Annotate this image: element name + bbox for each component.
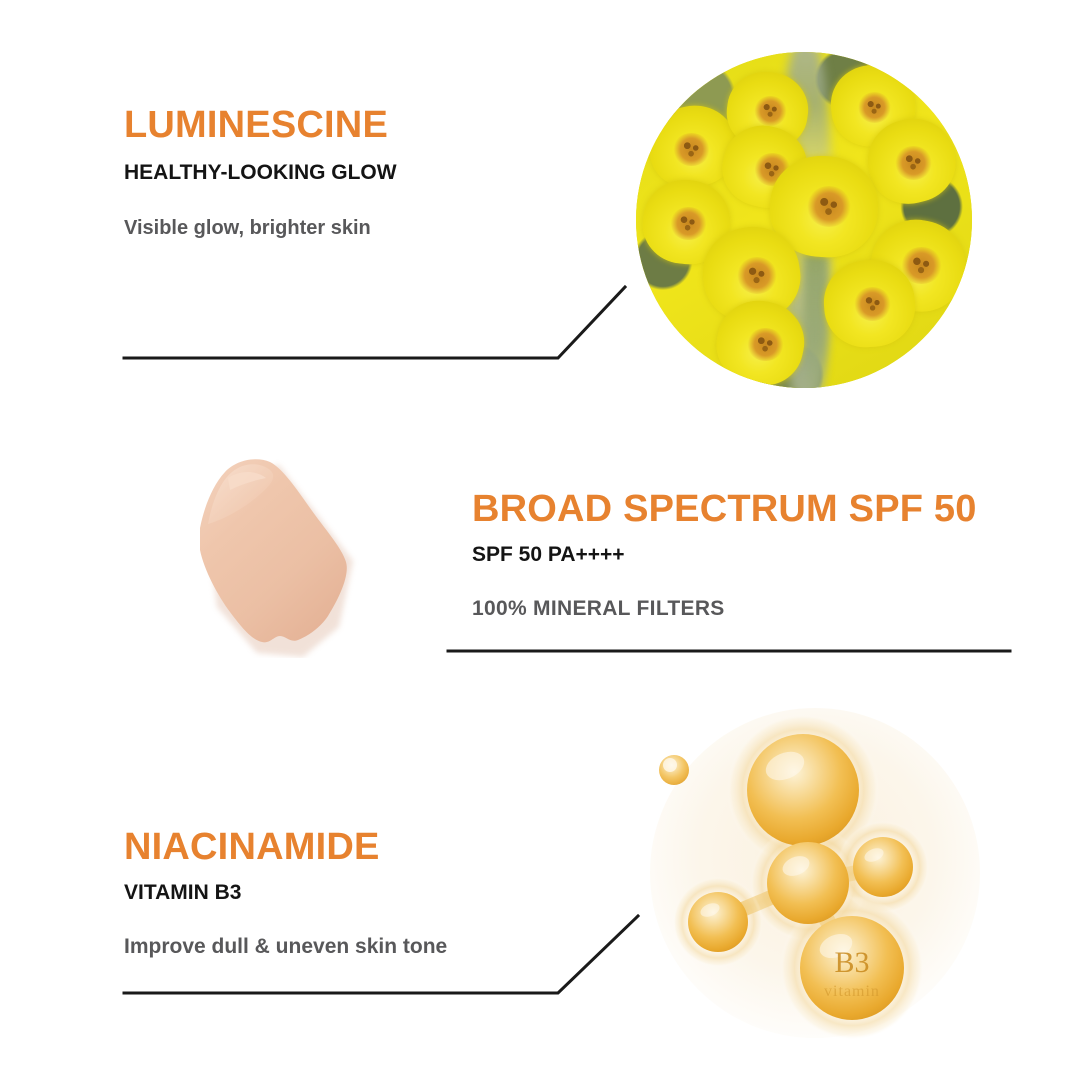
ingredient-subtitle-niacinamide: VITAMIN B3 xyxy=(124,882,447,903)
molecule-droplet xyxy=(659,755,689,785)
ingredient-title-niacinamide: NIACINAMIDE xyxy=(124,828,447,866)
molecule-sphere-left xyxy=(688,892,748,952)
ingredient-title-spf: BROAD SPECTRUM SPF 50 xyxy=(472,490,977,528)
flower-image-luminescine xyxy=(636,52,972,388)
molecule-sphere-right xyxy=(853,837,913,897)
ingredient-subtitle-spf: SPF 50 PA++++ xyxy=(472,544,977,565)
molecule-sphere-top xyxy=(747,734,859,846)
molecule-image-niacinamide: B3 vitamin xyxy=(640,700,990,1060)
ingredient-description-luminescine: Visible glow, brighter skin xyxy=(124,218,397,238)
flower-center xyxy=(807,186,851,226)
connector-line-luminescine xyxy=(124,287,625,358)
ingredient-description-niacinamide: Improve dull & uneven skin tone xyxy=(124,936,447,957)
molecule-label-vitamin: vitamin xyxy=(824,983,880,1000)
infographic-canvas: LUMINESCINE HEALTHY-LOOKING GLOW Visible… xyxy=(0,0,1080,1080)
section-niacinamide: NIACINAMIDE VITAMIN B3 Improve dull & un… xyxy=(124,828,447,957)
section-luminescine: LUMINESCINE HEALTHY-LOOKING GLOW Visible… xyxy=(124,106,397,238)
flower-center xyxy=(854,287,891,321)
flower-center xyxy=(858,92,892,122)
molecule-diagram: B3 vitamin xyxy=(640,700,990,1060)
cream-swatch-image-spf xyxy=(178,450,364,658)
molecule-sphere-center xyxy=(767,842,849,924)
ingredient-title-luminescine: LUMINESCINE xyxy=(124,106,397,144)
flower-center xyxy=(737,257,777,294)
section-broad-spectrum-spf: BROAD SPECTRUM SPF 50 SPF 50 PA++++ 100%… xyxy=(472,490,977,619)
flower-center xyxy=(670,207,707,241)
molecule-label-b3: B3 xyxy=(834,946,869,979)
flower-center xyxy=(673,133,710,167)
ingredient-description-spf: 100% MINERAL FILTERS xyxy=(472,598,977,619)
flower-center xyxy=(747,328,784,362)
flower-center xyxy=(895,146,932,180)
ingredient-subtitle-luminescine: HEALTHY-LOOKING GLOW xyxy=(124,162,397,183)
flower-center xyxy=(754,96,788,126)
